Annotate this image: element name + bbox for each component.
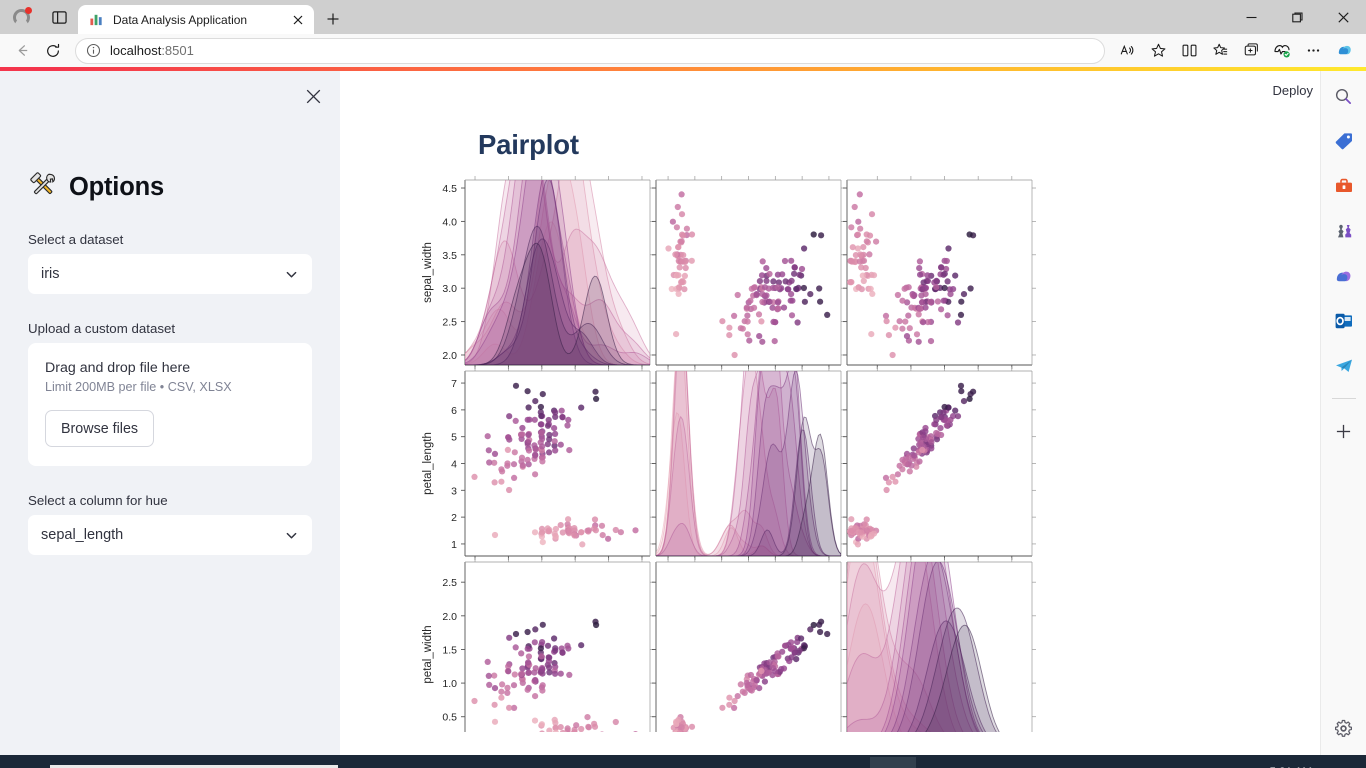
window-minimize-button[interactable] bbox=[1228, 0, 1274, 34]
y-axis-tick-label: 1.0 bbox=[442, 678, 457, 690]
y-axis-label: petal_width bbox=[422, 625, 434, 683]
back-arrow-icon[interactable] bbox=[7, 37, 37, 65]
options-title: Options bbox=[69, 173, 164, 202]
y-axis-tick-label: 3.5 bbox=[442, 250, 457, 262]
copilot-icon[interactable] bbox=[1329, 37, 1359, 65]
browser-essentials-icon[interactable] bbox=[1267, 37, 1297, 65]
bar-chart-icon bbox=[89, 12, 104, 27]
y-axis-tick-label: 2.0 bbox=[442, 350, 457, 362]
shopping-tag-icon[interactable] bbox=[1329, 126, 1359, 156]
add-tab-group-icon[interactable] bbox=[1236, 37, 1266, 65]
show-hidden-icons-chevron[interactable] bbox=[1084, 758, 1110, 768]
windows-start-icon[interactable] bbox=[4, 758, 50, 768]
toolbar-right-actions bbox=[1112, 37, 1359, 65]
y-axis-tick-label: 4.0 bbox=[442, 216, 457, 228]
volume-icon[interactable] bbox=[1188, 758, 1214, 768]
y-axis-tick-label: 3 bbox=[451, 485, 457, 497]
y-axis-tick-label: 3.0 bbox=[442, 283, 457, 295]
y-axis-tick-label: 5 bbox=[451, 432, 457, 444]
chevron-down-icon bbox=[284, 528, 299, 543]
pairplot-cell bbox=[652, 558, 845, 732]
hammer-and-wrench-icon bbox=[28, 170, 58, 205]
pairplot-cell bbox=[652, 306, 845, 560]
outlook-icon[interactable] bbox=[1329, 306, 1359, 336]
camera-privacy-icon[interactable] bbox=[1110, 758, 1136, 768]
y-axis-tick-label: 1 bbox=[451, 539, 457, 551]
pairplot-cell bbox=[652, 176, 845, 369]
dataset-select-value: iris bbox=[41, 266, 60, 282]
sticky-notes-icon[interactable] bbox=[582, 757, 628, 768]
profile-notification-dot bbox=[25, 7, 32, 14]
browse-files-button[interactable]: Browse files bbox=[45, 410, 154, 447]
system-tray: 21°C ENG INTL 5:31 AM 4/30/2024 1 bbox=[1005, 758, 1362, 768]
hue-select[interactable]: sepal_length bbox=[28, 515, 312, 555]
address-bar-text: localhost:8501 bbox=[110, 43, 1096, 58]
tab-search-icon[interactable] bbox=[46, 4, 72, 30]
y-axis-tick-label: 2.5 bbox=[442, 577, 457, 589]
sidebar-close-icon[interactable] bbox=[300, 83, 326, 109]
app-header-actions: Deploy bbox=[340, 71, 1366, 109]
split-screen-icon[interactable] bbox=[1174, 37, 1204, 65]
y-axis-tick-label: 4.5 bbox=[442, 183, 457, 195]
file-dropzone[interactable]: Drag and drop file here Limit 200MB per … bbox=[28, 343, 312, 466]
calculator-icon[interactable] bbox=[678, 757, 724, 768]
tools-icon[interactable] bbox=[1329, 171, 1359, 201]
notification-center-button[interactable]: 1 bbox=[1320, 758, 1352, 768]
telegram-icon[interactable] bbox=[1329, 351, 1359, 381]
y-axis-tick-label: 2.0 bbox=[442, 611, 457, 623]
y-axis-tick-label: 1.5 bbox=[442, 644, 457, 656]
options-heading: Options bbox=[28, 170, 312, 205]
settings-more-icon[interactable] bbox=[1298, 37, 1328, 65]
y-axis-label: petal_length bbox=[422, 432, 434, 495]
y-axis-tick-label: 6 bbox=[451, 405, 457, 417]
y-axis-tick-label: 4 bbox=[451, 459, 457, 471]
window-close-button[interactable] bbox=[1320, 0, 1366, 34]
wifi-icon[interactable] bbox=[1162, 758, 1188, 768]
deploy-button[interactable]: Deploy bbox=[1264, 78, 1322, 103]
read-aloud-icon[interactable] bbox=[1112, 37, 1142, 65]
edge-sidebar bbox=[1320, 71, 1366, 755]
pairplot-cell: 2.02.53.03.54.04.5sepal_width bbox=[422, 172, 654, 369]
search-icon[interactable] bbox=[1329, 81, 1359, 111]
profile-avatar[interactable] bbox=[6, 4, 36, 30]
reload-icon[interactable] bbox=[38, 37, 68, 65]
collections-icon[interactable] bbox=[1205, 37, 1235, 65]
tabstrip-left-controls bbox=[0, 0, 78, 34]
snipping-tool-icon[interactable] bbox=[630, 757, 676, 768]
battery-icon[interactable] bbox=[1136, 758, 1162, 768]
games-icon[interactable] bbox=[1329, 216, 1359, 246]
show-desktop-strip[interactable] bbox=[1352, 758, 1358, 768]
obs-studio-icon[interactable] bbox=[726, 757, 772, 768]
settings-gear-icon[interactable] bbox=[1329, 713, 1359, 743]
pairplot-cell bbox=[843, 176, 1036, 369]
address-bar[interactable]: localhost:8501 bbox=[75, 38, 1105, 64]
new-tab-button[interactable] bbox=[319, 5, 347, 33]
browser-toolbar: localhost:8501 bbox=[0, 34, 1366, 67]
app-main-content: Deploy Pairplot 2.02.53.03.54.04.5sepal_… bbox=[340, 71, 1366, 755]
pairplot-cell: 1234567petal_length bbox=[422, 367, 654, 560]
pairplot-svg: 2.02.53.03.54.04.5sepal_width1234567peta… bbox=[420, 172, 1320, 732]
browser-tab[interactable]: Data Analysis Application bbox=[78, 5, 314, 34]
y-axis-tick-label: 0.5 bbox=[442, 712, 457, 724]
window-controls bbox=[1228, 0, 1366, 34]
vs-code-icon[interactable] bbox=[486, 757, 532, 768]
microsoft-edge-icon[interactable] bbox=[870, 757, 916, 768]
upload-label: Upload a custom dataset bbox=[28, 321, 312, 336]
geometry-dash-icon[interactable] bbox=[774, 757, 820, 768]
sidebar-divider bbox=[1332, 398, 1356, 399]
figma-icon[interactable] bbox=[822, 757, 868, 768]
tab-title: Data Analysis Application bbox=[113, 13, 280, 27]
y-axis-tick-label: 2 bbox=[451, 512, 457, 524]
task-view-icon[interactable] bbox=[340, 758, 386, 768]
add-icon[interactable] bbox=[1329, 416, 1359, 446]
page-title: Pairplot bbox=[478, 129, 1366, 161]
url-port: :8501 bbox=[161, 43, 194, 58]
pairplot-cell: 0.51.01.52.02.5petal_width bbox=[422, 558, 654, 732]
file-explorer-icon[interactable] bbox=[390, 757, 436, 768]
dataset-label: Select a dataset bbox=[28, 232, 312, 247]
y-axis-tick-label: 2.5 bbox=[442, 317, 457, 329]
brave-browser-icon[interactable] bbox=[438, 757, 484, 768]
dropzone-title: Drag and drop file here bbox=[45, 360, 295, 376]
hue-select-value: sepal_length bbox=[41, 527, 123, 543]
url-host: localhost bbox=[110, 43, 161, 58]
pairplot-cell bbox=[843, 367, 1036, 560]
window-maximize-button[interactable] bbox=[1274, 0, 1320, 34]
hue-label: Select a column for hue bbox=[28, 493, 312, 508]
terminal-icon[interactable] bbox=[534, 757, 580, 768]
tab-close-icon[interactable] bbox=[289, 11, 306, 28]
taskbar-app-buttons bbox=[390, 757, 916, 768]
windows-taskbar: Type here to search bbox=[0, 755, 1366, 768]
y-axis-tick-label: 7 bbox=[451, 378, 457, 390]
dataset-select[interactable]: iris bbox=[28, 254, 312, 294]
dropzone-limit-text: Limit 200MB per file • CSV, XLSX bbox=[45, 380, 295, 394]
copilot-icon[interactable] bbox=[1329, 261, 1359, 291]
browser-tab-strip: Data Analysis Application bbox=[0, 0, 1366, 34]
app-sidebar: Options Select a dataset iris Upload a c… bbox=[0, 71, 340, 755]
y-axis-label: sepal_width bbox=[422, 242, 434, 303]
favorite-star-icon[interactable] bbox=[1143, 37, 1173, 65]
chevron-down-icon bbox=[284, 267, 299, 282]
pairplot-figure: 2.02.53.03.54.04.5sepal_width1234567peta… bbox=[340, 172, 1366, 737]
page-viewport: Options Select a dataset iris Upload a c… bbox=[0, 71, 1366, 755]
info-icon[interactable] bbox=[86, 43, 101, 58]
